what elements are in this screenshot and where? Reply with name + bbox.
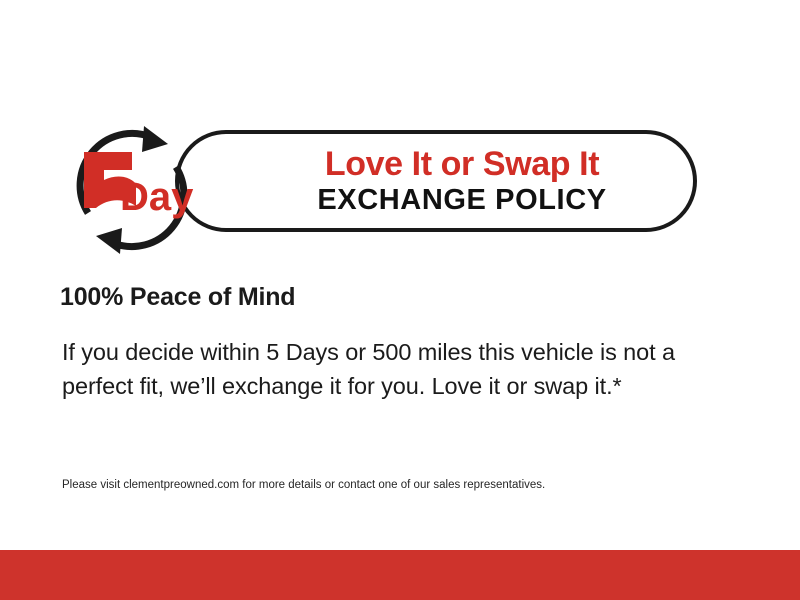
badge-block: Love It or Swap It EXCHANGE POLICY <box>52 100 652 260</box>
exchange-policy-card: Love It or Swap It EXCHANGE POLICY <box>0 0 800 600</box>
five-day-logo: Day <box>52 100 212 260</box>
badge-subhead: EXCHANGE POLICY <box>317 185 606 215</box>
peace-of-mind-heading: 100% Peace of Mind <box>60 283 295 312</box>
fine-print-disclaimer: Please visit clementpreowned.com for mor… <box>62 477 742 493</box>
badge-text-group: Love It or Swap It EXCHANGE POLICY <box>227 130 697 232</box>
policy-description: If you decide within 5 Days or 500 miles… <box>62 335 677 403</box>
badge-headline: Love It or Swap It <box>325 147 599 182</box>
svg-text:Day: Day <box>120 175 194 219</box>
five-day-wordmark: Day <box>84 152 194 219</box>
bottom-accent-bar <box>0 550 800 600</box>
